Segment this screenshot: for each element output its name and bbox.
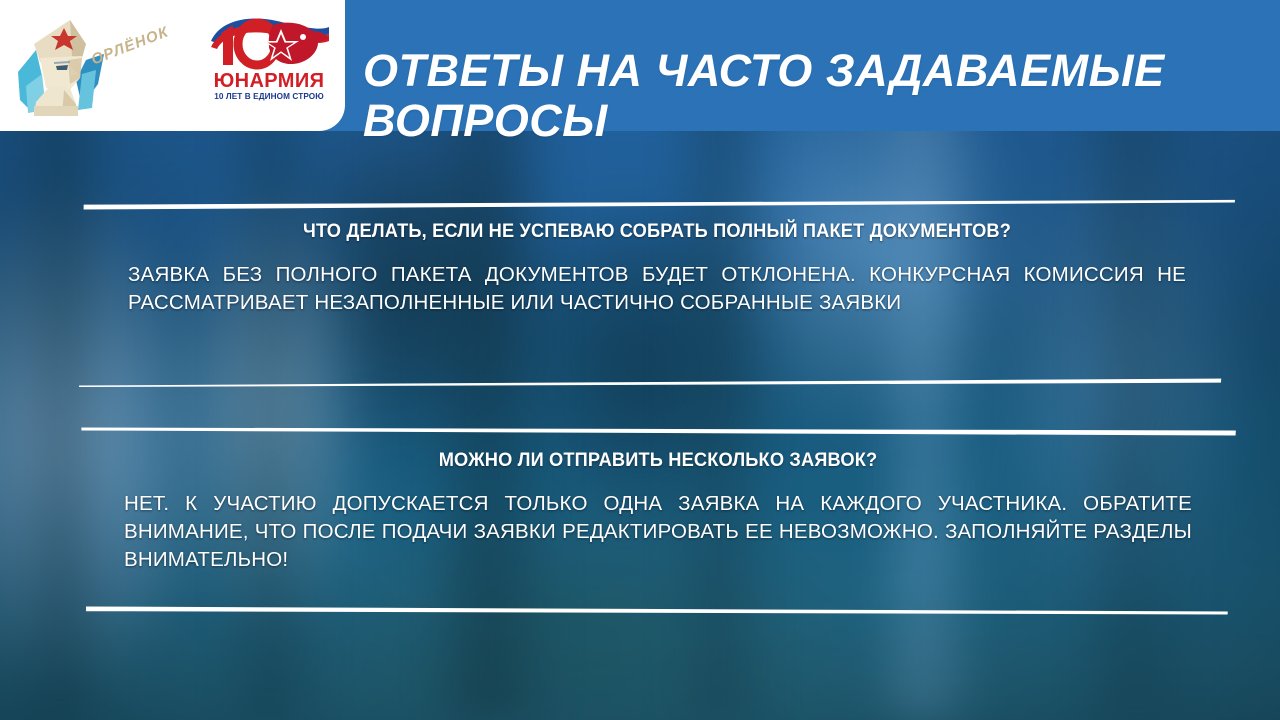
yunarmia-tagline: 10 ЛЕТ В ЕДИНОМ СТРОЮ <box>205 93 333 101</box>
slide-title: ОТВЕТЫ НА ЧАСТО ЗАДАВАЕМЫЕ ВОПРОСЫ <box>363 46 1263 146</box>
faq-answer: НЕТ. К УЧАСТИЮ ДОПУСКАЕТСЯ ТОЛЬКО ОДНА З… <box>124 490 1192 574</box>
faq-answer: ЗАЯВКА БЕЗ ПОЛНОГО ПАКЕТА ДОКУМЕНТОВ БУД… <box>128 261 1186 317</box>
card-content: ЧТО ДЕЛАТЬ, ЕСЛИ НЕ УСПЕВАЮ СОБРАТЬ ПОЛН… <box>72 200 1242 388</box>
yunarmia-logo: ЮНАРМИЯ 10 ЛЕТ В ЕДИНОМ СТРОЮ <box>205 13 333 119</box>
yunarmia-wordmark: ЮНАРМИЯ <box>205 71 333 91</box>
slide-root: ОРЛЁНОК <box>0 0 1280 720</box>
faq-card: ЧТО ДЕЛАТЬ, ЕСЛИ НЕ УСПЕВАЮ СОБРАТЬ ПОЛН… <box>72 200 1242 388</box>
faq-question: МОЖНО ЛИ ОТПРАВИТЬ НЕСКОЛЬКО ЗАЯВОК? <box>145 449 1170 473</box>
card-content: МОЖНО ЛИ ОТПРАВИТЬ НЕСКОЛЬКО ЗАЯВОК? НЕТ… <box>72 427 1244 615</box>
faq-card: МОЖНО ЛИ ОТПРАВИТЬ НЕСКОЛЬКО ЗАЯВОК? НЕТ… <box>72 427 1244 615</box>
faq-question: ЧТО ДЕЛАТЬ, ЕСЛИ НЕ УСПЕВАЮ СОБРАТЬ ПОЛН… <box>149 220 1165 244</box>
yunarmia-mark-icon <box>207 13 331 71</box>
logo-panel: ОРЛЁНОК <box>0 0 345 131</box>
